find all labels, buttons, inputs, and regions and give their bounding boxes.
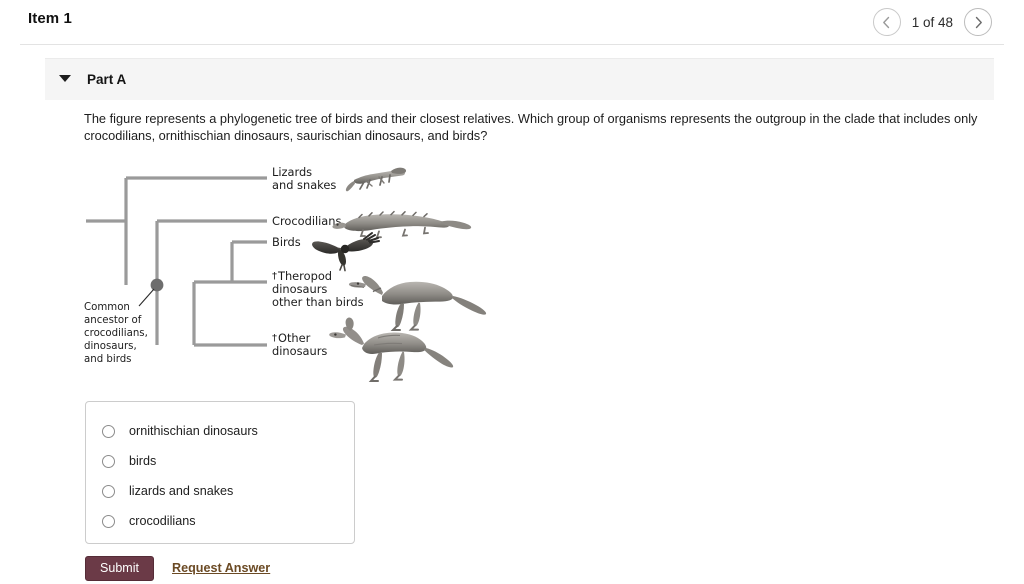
option-label: lizards and snakes <box>129 484 233 498</box>
taxon-label-other-dinosaurs-line-1: Other <box>278 331 311 345</box>
theropod-illustration <box>349 276 486 330</box>
annotation-line-4: dinosaurs, <box>84 341 137 352</box>
common-ancestor-annotation: Common ancestor of crocodilians, dinosau… <box>84 302 148 365</box>
taxon-label-other-dinosaurs-line-2: dinosaurs <box>272 344 327 358</box>
next-item-button[interactable] <box>964 8 992 36</box>
option-ornithischian-dinosaurs[interactable]: ornithischian dinosaurs <box>102 424 258 438</box>
annotation-line-3: crocodilians, <box>84 328 148 339</box>
page-title: Item 1 <box>28 10 72 27</box>
submit-button[interactable]: Submit <box>85 556 154 581</box>
hadrosaur-illustration <box>329 318 453 381</box>
annotation-leader-line <box>139 289 154 306</box>
option-crocodilians[interactable]: crocodilians <box>102 514 196 528</box>
annotation-line-1: Common <box>84 302 130 313</box>
dagger-icon-other-dinosaurs: † <box>272 333 277 344</box>
option-label: birds <box>129 454 156 468</box>
part-a-header[interactable]: Part A <box>45 58 994 100</box>
question-prompt: The figure represents a phylogenetic tre… <box>84 111 984 144</box>
radio-button-crocodilians[interactable] <box>102 515 115 528</box>
answer-options-group: ornithischian dinosaurs birds lizards an… <box>85 401 355 544</box>
taxon-label-theropod-line-1: Theropod <box>277 269 332 283</box>
radio-button-birds[interactable] <box>102 455 115 468</box>
previous-item-button[interactable] <box>873 8 901 36</box>
taxon-label-birds: Birds <box>272 235 301 249</box>
bird-illustration <box>312 233 379 271</box>
pager: 1 of 48 <box>873 8 992 36</box>
caret-down-icon[interactable] <box>59 75 71 82</box>
option-label: crocodilians <box>129 514 196 528</box>
crocodile-illustration <box>332 212 471 238</box>
annotation-line-2: ancestor of <box>84 315 142 326</box>
chevron-right-icon <box>974 16 983 29</box>
taxon-label-theropod-line-2: dinosaurs <box>272 282 327 296</box>
chevron-left-icon <box>882 16 891 29</box>
request-answer-link[interactable]: Request Answer <box>172 561 270 575</box>
radio-button-lizards-and-snakes[interactable] <box>102 485 115 498</box>
phylogenetic-tree-figure: Common ancestor of crocodilians, dinosau… <box>84 160 504 395</box>
taxon-label-crocodilians: Crocodilians <box>272 214 342 228</box>
tree-diagram: Common ancestor of crocodilians, dinosau… <box>84 160 504 395</box>
taxon-label-lizards-line-1: Lizards <box>272 165 312 179</box>
pager-label: 1 of 48 <box>912 15 953 30</box>
part-a-label: Part A <box>87 72 126 87</box>
radio-button-ornithischian-dinosaurs[interactable] <box>102 425 115 438</box>
option-label: ornithischian dinosaurs <box>129 424 258 438</box>
page-header: Item 1 1 of 48 <box>0 0 1024 45</box>
header-divider <box>20 44 1004 45</box>
common-ancestor-node <box>151 279 164 292</box>
taxon-label-lizards-line-2: and snakes <box>272 178 336 192</box>
taxon-label-theropod-line-3: other than birds <box>272 295 364 309</box>
option-birds[interactable]: birds <box>102 454 156 468</box>
annotation-line-5: and birds <box>84 354 132 365</box>
dagger-icon-theropod: † <box>272 271 277 282</box>
lizard-illustration <box>346 168 406 192</box>
option-lizards-and-snakes[interactable]: lizards and snakes <box>102 484 233 498</box>
